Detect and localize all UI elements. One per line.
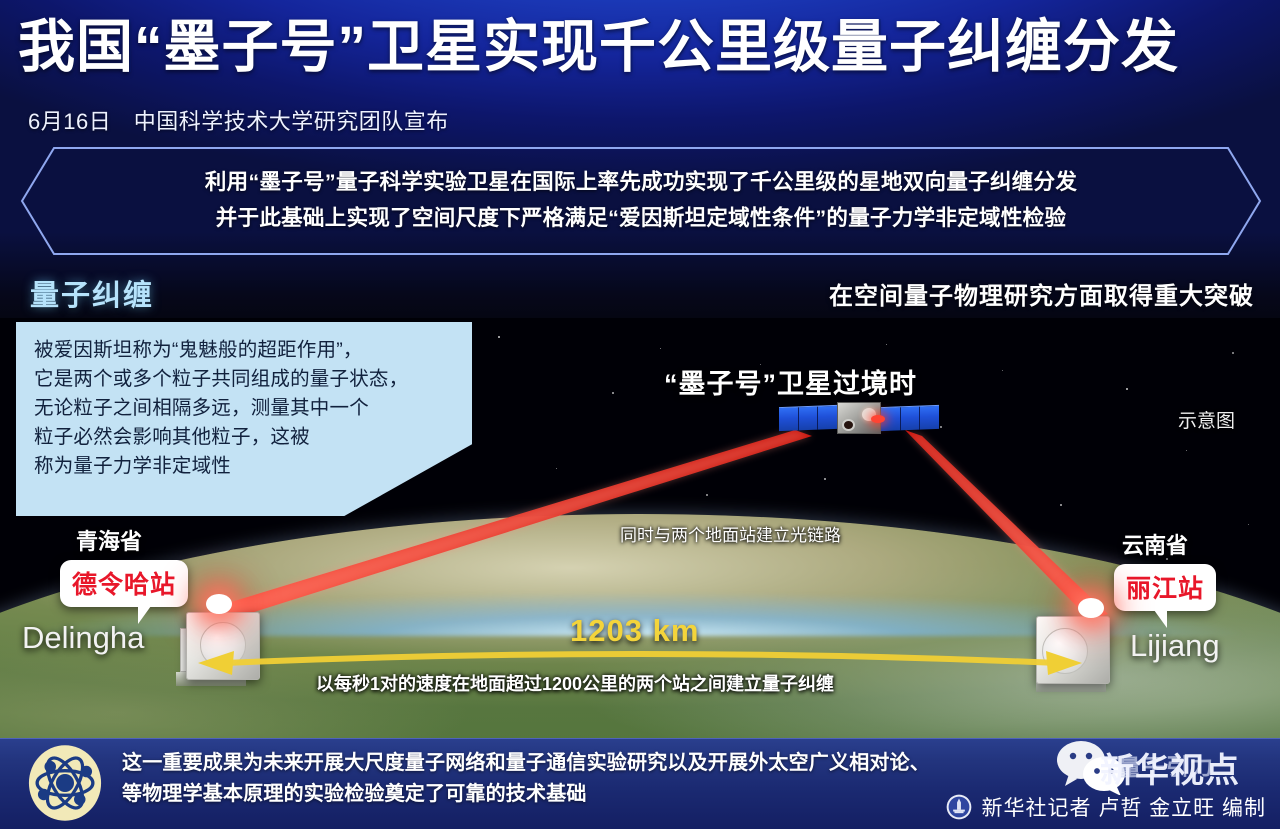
station-bubble-label-lijiang: 丽江站 [1126,575,1204,603]
breakthrough-headline: 在空间量子物理研究方面取得重大突破 [829,276,1254,311]
solar-panel-left-icon [779,405,837,431]
station-bubble-delingha[interactable]: 德令哈站 [60,560,188,607]
xinhua-logo-icon [946,794,972,820]
delingha-beam-flare-icon [206,594,232,614]
atom-icon [24,742,106,824]
distance-label: 1203 km [570,613,699,649]
watermark-title: 新华视点 [1100,743,1240,792]
banner-line-1: 利用“墨子号”量子科学实验卫星在国际上率先成功实现了千公里级的星地双向量子纠缠分… [76,164,1206,200]
explanation-line-1: 被爱因斯坦称为“鬼魅般的超距作用”， [34,336,456,365]
explanation-line-3: 无论粒子之间相隔多远，测量其中一个 [34,394,456,423]
footer-line-1: 这一重要成果为未来开展大尺度量子网络和量子通信实验研究以及开展外太空广义相对论、 [122,748,1022,779]
optical-link-note: 同时与两个地面站建立光链路 [620,521,841,546]
schematic-tag: 示意图 [1178,406,1235,433]
solar-panel-right-icon [881,405,939,431]
explanation-line-5: 称为量子力学非定域性 [34,452,456,481]
header-subtitle: 6月16日 中国科学技术大学研究团队宣布 [28,104,449,136]
statement-banner: 利用“墨子号”量子科学实验卫星在国际上率先成功实现了千公里级的星地双向量子纠缠分… [20,146,1262,256]
section-label-entanglement: 量子纠缠 [30,272,154,314]
credit-line: 新华社记者 卢哲 金立旺 编制 [946,792,1266,822]
banner-line-2: 并于此基础上实现了空间尺度下严格满足“爱因斯坦定域性条件”的量子力学非定域性检验 [76,200,1206,236]
city-label-lijiang: Lijiang [1130,628,1220,664]
province-label-qinghai: 青海省 [76,524,142,556]
footer-paragraph: 这一重要成果为未来开展大尺度量子网络和量子通信实验研究以及开展外太空广义相对论、… [122,748,1022,810]
satellite-caption: “墨子号”卫星过境时 [664,362,917,401]
ground-entanglement-note: 以每秒1对的速度在地面超过1200公里的两个站之间建立量子纠缠 [316,670,834,696]
footer-line-2: 等物理学基本原理的实验检验奠定了可靠的技术基础 [122,779,1022,810]
satellite-telescope-icon [842,419,855,431]
delingha-dish-icon [200,622,246,668]
lijiang-beam-flare-icon [1078,598,1104,618]
credit-text: 新华社记者 卢哲 金立旺 编制 [981,792,1266,822]
explanation-line-4: 粒子必然会影响其他粒子，这被 [34,423,456,452]
satellite-micius [779,402,939,440]
lijiang-dish-icon [1042,628,1088,674]
province-label-yunnan: 云南省 [1122,528,1188,560]
infographic-poster: 我国“墨子号”卫星实现千公里级量子纠缠分发 6月16日 中国科学技术大学研究团队… [0,0,1280,829]
station-bubble-label-delingha: 德令哈站 [72,571,176,599]
explanation-line-2: 它是两个或多个粒子共同组成的量子状态， [34,365,456,394]
satellite-emitter-glow-icon [871,415,885,423]
station-bubble-lijiang[interactable]: 丽江站 [1114,564,1216,611]
city-label-delingha: Delingha [22,620,144,656]
page-title: 我国“墨子号”卫星实现千公里级量子纠缠分发 [18,16,1268,79]
